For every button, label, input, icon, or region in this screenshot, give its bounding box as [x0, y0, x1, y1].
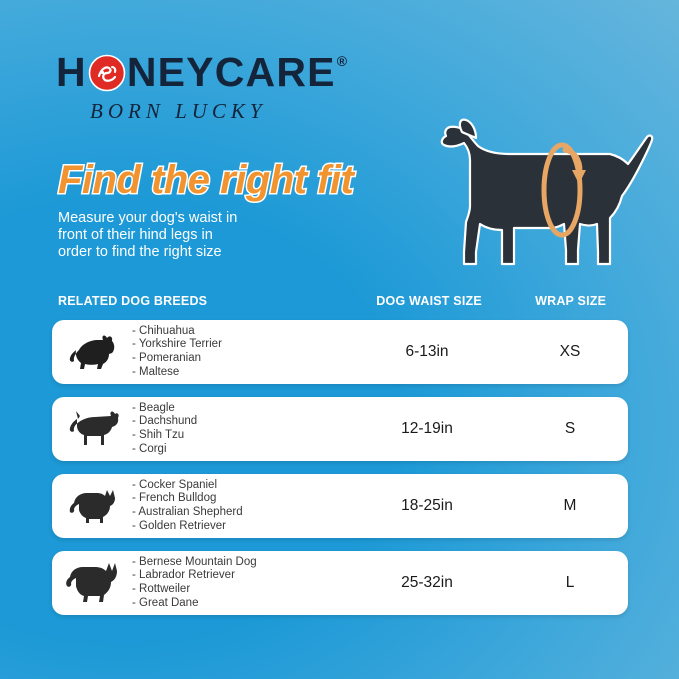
- breed-list: - Cocker Spaniel - French Bulldog - Aust…: [132, 479, 243, 533]
- dog-side-view-illustration: [432, 112, 666, 274]
- breed-item: - Shih Tzu: [132, 429, 197, 443]
- brand-tagline: BORN LUCKY: [90, 99, 386, 124]
- instructions-line-3: order to find the right size: [58, 244, 298, 261]
- waist-size-value: 25-32in: [342, 574, 512, 592]
- breed-item: - Maltese: [132, 366, 222, 380]
- breeds-cell: - Chihuahua - Yorkshire Terrier - Pomera…: [52, 325, 342, 379]
- breed-item: - Rottweiler: [132, 583, 257, 597]
- breed-item: - French Bulldog: [132, 492, 243, 506]
- breed-list: - Bernese Mountain Dog - Labrador Retrie…: [132, 556, 257, 610]
- wrap-size-value: XS: [512, 343, 628, 361]
- brand-name-part2: NEYCARE: [127, 52, 336, 93]
- waist-size-value: 6-13in: [342, 343, 512, 361]
- breed-item: - Labrador Retriever: [132, 569, 257, 583]
- brand-wordmark: H NEYCARE ®: [56, 52, 386, 93]
- breed-item: - Beagle: [132, 402, 197, 416]
- breed-item: - Bernese Mountain Dog: [132, 556, 257, 570]
- large-dog-icon: [58, 560, 132, 606]
- dog-silhouette-shape: [442, 120, 652, 264]
- brand-block: H NEYCARE ® BORN LUCKY: [56, 52, 386, 124]
- column-header-waist-size: DOG WAIST SIZE: [345, 294, 513, 308]
- column-header-breeds: RELATED DOG BREEDS: [52, 294, 345, 308]
- breeds-cell: - Beagle - Dachshund - Shih Tzu - Corgi: [52, 402, 342, 456]
- breed-item: - Pomeranian: [132, 352, 222, 366]
- breed-item: - Chihuahua: [132, 325, 222, 339]
- breed-item: - Australian Shepherd: [132, 506, 243, 520]
- small-dog-icon: [58, 330, 132, 374]
- breed-item: - Great Dane: [132, 597, 257, 611]
- table-row: - Chihuahua - Yorkshire Terrier - Pomera…: [52, 320, 628, 384]
- breed-item: - Corgi: [132, 443, 197, 457]
- instructions-line-1: Measure your dog's waist in: [58, 210, 298, 227]
- breed-item: - Golden Retriever: [132, 520, 243, 534]
- wrap-size-value: L: [512, 574, 628, 592]
- breed-item: - Yorkshire Terrier: [132, 338, 222, 352]
- breed-item: - Dachshund: [132, 415, 197, 429]
- wrap-size-value: M: [512, 497, 628, 515]
- waist-size-value: 18-25in: [342, 497, 512, 515]
- breed-list: - Beagle - Dachshund - Shih Tzu - Corgi: [132, 402, 197, 456]
- honeycare-circle-logo-icon: [88, 54, 126, 92]
- registered-trademark-symbol: ®: [337, 54, 347, 68]
- table-row: - Beagle - Dachshund - Shih Tzu - Corgi …: [52, 397, 628, 461]
- table-row: - Cocker Spaniel - French Bulldog - Aust…: [52, 474, 628, 538]
- breeds-cell: - Bernese Mountain Dog - Labrador Retrie…: [52, 556, 342, 610]
- breed-list: - Chihuahua - Yorkshire Terrier - Pomera…: [132, 325, 222, 379]
- size-guide-poster: H NEYCARE ® BORN LUCKY Find the right fi…: [0, 0, 679, 679]
- medium-small-dog-icon: [58, 407, 132, 451]
- table-header-row: RELATED DOG BREEDS DOG WAIST SIZE WRAP S…: [52, 290, 628, 320]
- breeds-cell: - Cocker Spaniel - French Bulldog - Aust…: [52, 479, 342, 533]
- wrap-size-value: S: [512, 420, 628, 438]
- page-title: Find the right fit: [58, 158, 353, 203]
- size-chart-table: RELATED DOG BREEDS DOG WAIST SIZE WRAP S…: [52, 290, 628, 628]
- brand-name-part1: H: [56, 52, 87, 93]
- column-header-wrap-size: WRAP SIZE: [513, 294, 628, 308]
- waist-size-value: 12-19in: [342, 420, 512, 438]
- medium-dog-icon: [58, 484, 132, 528]
- instructions-line-2: front of their hind legs in: [58, 227, 298, 244]
- instructions-text: Measure your dog's waist in front of the…: [58, 210, 298, 261]
- table-row: - Bernese Mountain Dog - Labrador Retrie…: [52, 551, 628, 615]
- breed-item: - Cocker Spaniel: [132, 479, 243, 493]
